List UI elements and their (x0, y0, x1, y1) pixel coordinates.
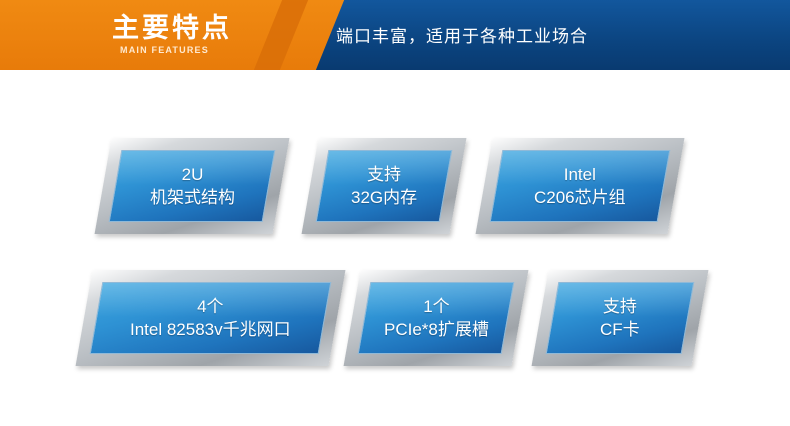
feature-chip-inner: 4个 Intel 82583v千兆网口 (90, 282, 332, 354)
feature-chip-inner: 支持 32G内存 (316, 150, 453, 222)
feature-chip-line2: C206芯片组 (534, 186, 626, 209)
feature-chip-line1: 支持 (367, 165, 401, 184)
feature-chip-line1: 1个 (423, 297, 449, 316)
feature-chip-line1: 支持 (603, 297, 637, 316)
banner-tagline: 端口丰富，适用于各种工业场合 (336, 22, 588, 47)
feature-chip-inner: Intel C206芯片组 (490, 150, 671, 222)
banner-subtitle: MAIN FEATURES (120, 45, 209, 55)
feature-chip-line1: 4个 (197, 297, 223, 316)
feature-chip-text: 1个 PCIe*8扩展槽 (384, 295, 489, 341)
feature-chip-line2: PCIe*8扩展槽 (384, 318, 489, 341)
feature-chip-line1: Intel (564, 165, 596, 184)
feature-chip-inner: 支持 CF卡 (546, 282, 695, 354)
banner-title: 主要特点 (112, 13, 232, 43)
feature-chip-text: 支持 32G内存 (351, 163, 417, 209)
feature-chip-line2: 机架式结构 (150, 186, 235, 209)
feature-chip: 1个 PCIe*8扩展槽 (344, 270, 529, 366)
feature-chip-text: Intel C206芯片组 (534, 163, 626, 209)
feature-chip-inner: 1个 PCIe*8扩展槽 (358, 282, 515, 354)
feature-chip-text: 4个 Intel 82583v千兆网口 (130, 295, 291, 341)
feature-chip: 4个 Intel 82583v千兆网口 (76, 270, 346, 366)
feature-chip-line2: 32G内存 (351, 186, 417, 209)
feature-chip-grid: 2U 机架式结构 支持 32G内存 Intel C206芯片组 (0, 70, 790, 426)
feature-chip-line1: 2U (181, 165, 203, 184)
feature-chip: 2U 机架式结构 (95, 138, 290, 234)
feature-chip-inner: 2U 机架式结构 (109, 150, 276, 222)
header-banner: 主要特点 MAIN FEATURES 端口丰富，适用于各种工业场合 (0, 0, 790, 70)
feature-chip: 支持 CF卡 (532, 270, 709, 366)
feature-chip-text: 2U 机架式结构 (150, 163, 235, 209)
feature-chip-line2: Intel 82583v千兆网口 (130, 318, 291, 341)
feature-chip: 支持 32G内存 (302, 138, 467, 234)
feature-chip-line2: CF卡 (600, 318, 640, 341)
feature-chip-text: 支持 CF卡 (600, 295, 640, 341)
feature-chip: Intel C206芯片组 (476, 138, 685, 234)
feature-page: 主要特点 MAIN FEATURES 端口丰富，适用于各种工业场合 2U 机架式… (0, 0, 790, 426)
